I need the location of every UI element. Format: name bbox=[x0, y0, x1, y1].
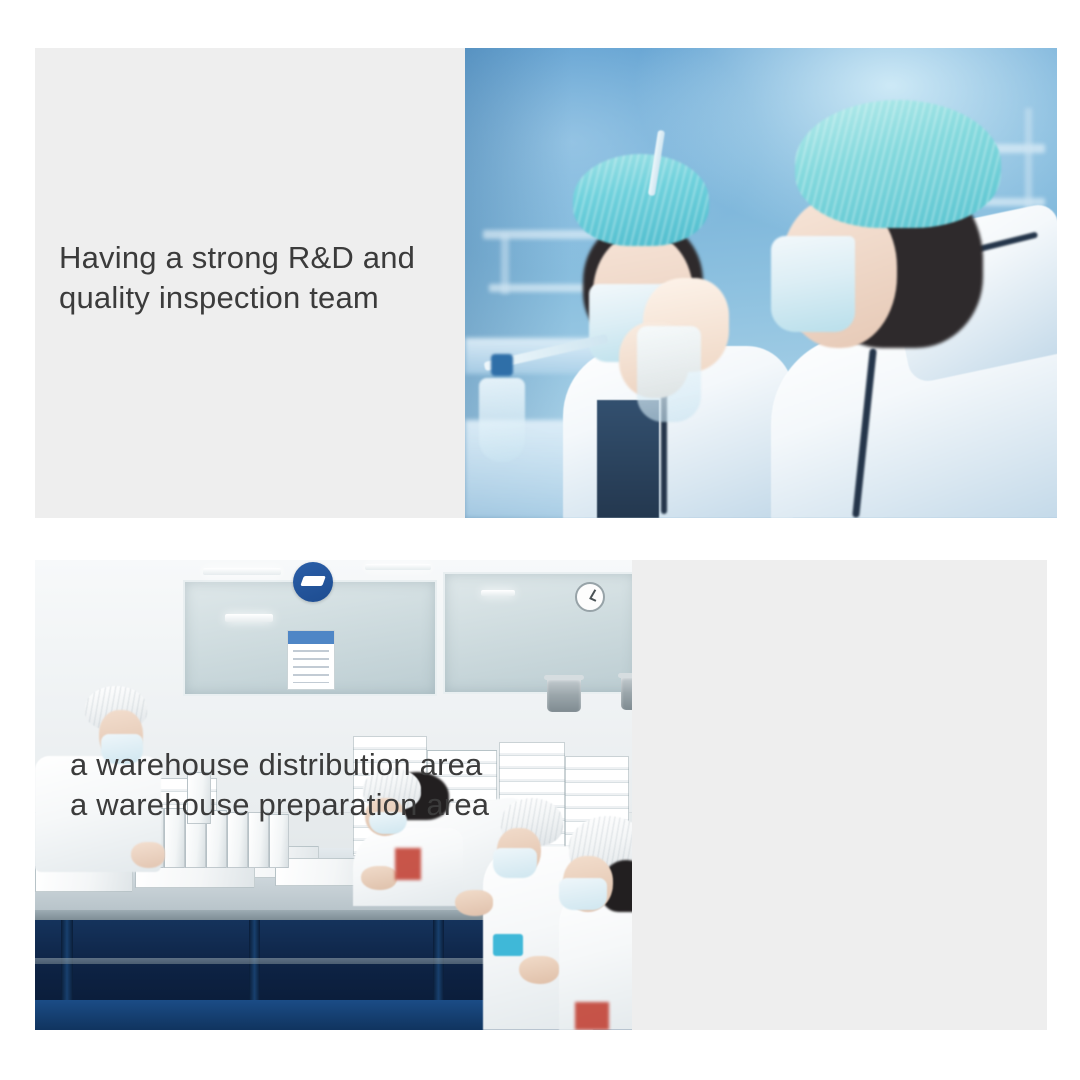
lab-beaker bbox=[479, 378, 525, 462]
worker-right-hand bbox=[519, 956, 559, 984]
lab-tech-right-hairnet bbox=[795, 100, 1001, 228]
wall-notice-lines bbox=[293, 650, 330, 684]
worker-right-mask bbox=[559, 878, 607, 910]
ceiling-light bbox=[203, 568, 281, 575]
ceiling-light bbox=[365, 564, 431, 570]
lab-tech-left-hairnet bbox=[573, 154, 709, 246]
page-root: Having a strong R&D and quality inspecti… bbox=[0, 0, 1080, 1080]
blue-circular-sign bbox=[293, 562, 333, 602]
ceiling-light bbox=[225, 614, 273, 622]
warehouse-caption-text: a warehouse distribution area a warehous… bbox=[70, 745, 490, 826]
steel-pot bbox=[621, 676, 632, 710]
worker-cr-mask bbox=[493, 848, 537, 878]
worker-bending-red-item bbox=[395, 848, 421, 880]
rnd-caption-text: Having a strong R&D and quality inspecti… bbox=[59, 238, 459, 319]
warehouse-caption-panel bbox=[632, 560, 1047, 1030]
wall-notice-header bbox=[288, 631, 334, 644]
lab-shelf-post bbox=[501, 234, 509, 294]
worker-right-red-item bbox=[575, 1002, 609, 1030]
wall-clock bbox=[575, 582, 605, 612]
worker-left-hand bbox=[131, 842, 165, 868]
lab-tech-right-mask bbox=[771, 236, 855, 332]
worker-right-blue-item bbox=[493, 934, 523, 956]
ceiling-light bbox=[481, 590, 515, 596]
worker-bending-hand bbox=[361, 866, 397, 890]
section-rnd-quality: Having a strong R&D and quality inspecti… bbox=[35, 48, 1057, 518]
steel-pot bbox=[547, 678, 581, 712]
lab-pipette-bulb bbox=[491, 354, 513, 376]
wall-notice bbox=[287, 630, 335, 690]
worker-cr-hand bbox=[455, 890, 493, 916]
lab-flask bbox=[637, 326, 701, 422]
rnd-lab-photo bbox=[465, 48, 1057, 518]
section-warehouse-areas: a warehouse distribution area a warehous… bbox=[35, 560, 1047, 1030]
